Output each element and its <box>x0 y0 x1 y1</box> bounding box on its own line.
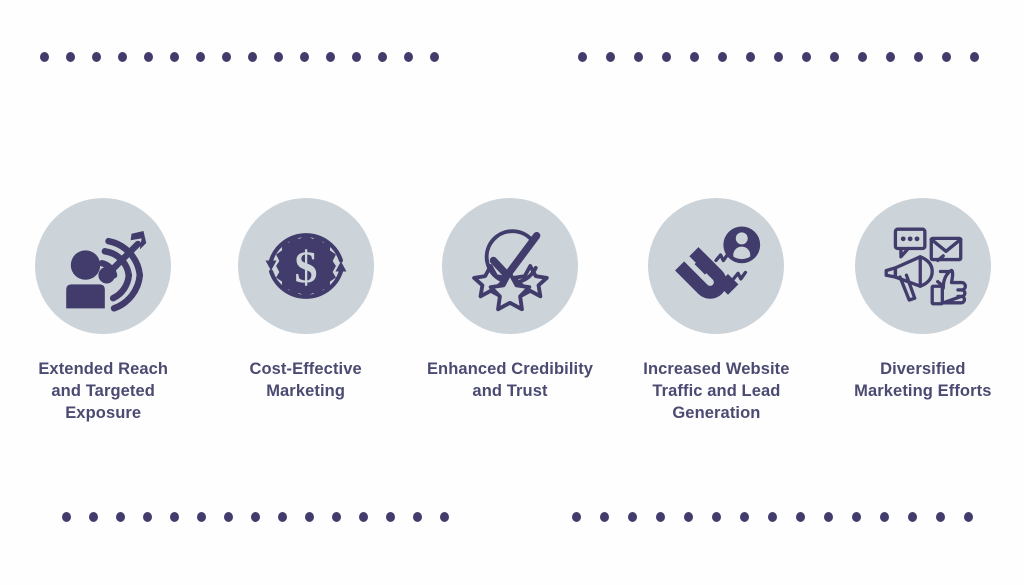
decorative-dot <box>600 512 609 522</box>
benefit-label: Extended Reach and Targeted Exposure <box>8 358 198 424</box>
decorative-dot <box>66 52 75 62</box>
decorative-dot <box>774 52 783 62</box>
benefit-item-website-traffic: Increased Website Traffic and Lead Gener… <box>615 198 817 424</box>
benefit-item-credibility: Enhanced Credibility and Trust <box>409 198 611 402</box>
decorative-dot <box>908 512 917 522</box>
decorative-dot <box>656 512 665 522</box>
decorative-dot <box>92 52 101 62</box>
decorative-dot <box>684 512 693 522</box>
decorative-dot <box>690 52 699 62</box>
decorative-dot <box>143 512 152 522</box>
decorative-dot <box>628 512 637 522</box>
decorative-dot <box>248 52 257 62</box>
decorative-dot <box>326 52 335 62</box>
decorative-dot <box>116 512 125 522</box>
decorative-dot <box>170 512 179 522</box>
decorative-dot <box>970 52 979 62</box>
decorative-dot <box>170 52 179 62</box>
decorative-dot <box>740 512 749 522</box>
icon-badge <box>442 198 578 334</box>
decorative-dot <box>964 512 973 522</box>
person-target-arrow-icon <box>57 220 149 312</box>
decorative-dot <box>578 52 587 62</box>
decorative-dot <box>942 52 951 62</box>
decorative-dot <box>118 52 127 62</box>
decorative-dot <box>914 52 923 62</box>
decorative-dot <box>89 512 98 522</box>
magnet-person-icon <box>670 220 762 312</box>
decorative-dot <box>413 512 422 522</box>
decorative-dot-row-bottom-left <box>62 511 449 523</box>
decorative-dot <box>224 512 233 522</box>
infographic-canvas: Extended Reach and Targeted Exposure <box>0 0 1024 585</box>
benefit-item-extended-reach: Extended Reach and Targeted Exposure <box>2 198 204 424</box>
decorative-dot-row-top-left <box>40 51 439 63</box>
decorative-dot <box>572 512 581 522</box>
decorative-dot <box>830 52 839 62</box>
decorative-dot <box>359 512 368 522</box>
decorative-dot <box>886 52 895 62</box>
benefit-label: Diversified Marketing Efforts <box>828 358 1018 402</box>
decorative-dot <box>332 512 341 522</box>
decorative-dot <box>852 512 861 522</box>
icon-badge <box>648 198 784 334</box>
decorative-dot <box>300 52 309 62</box>
decorative-dot <box>634 52 643 62</box>
gear-dollar-cycle-icon: $ <box>260 220 352 312</box>
decorative-dot <box>352 52 361 62</box>
decorative-dot <box>662 52 671 62</box>
decorative-dot <box>404 52 413 62</box>
decorative-dot <box>274 52 283 62</box>
decorative-dot <box>718 52 727 62</box>
svg-text:$: $ <box>294 242 317 293</box>
decorative-dot <box>430 52 439 62</box>
decorative-dot <box>802 52 811 62</box>
decorative-dot <box>386 512 395 522</box>
decorative-dot <box>222 52 231 62</box>
decorative-dot <box>746 52 755 62</box>
icon-badge <box>855 198 991 334</box>
decorative-dot <box>606 52 615 62</box>
decorative-dot-row-bottom-right <box>572 511 973 523</box>
decorative-dot <box>712 512 721 522</box>
icon-badge: $ <box>238 198 374 334</box>
decorative-dot <box>278 512 287 522</box>
decorative-dot <box>440 512 449 522</box>
benefit-items-row: Extended Reach and Targeted Exposure <box>0 198 1024 424</box>
decorative-dot <box>858 52 867 62</box>
decorative-dot <box>197 512 206 522</box>
megaphone-chat-mail-thumbsup-icon <box>877 220 969 312</box>
benefit-label: Cost-Effective Marketing <box>211 358 401 402</box>
decorative-dot <box>796 512 805 522</box>
decorative-dot <box>936 512 945 522</box>
benefit-item-cost-effective: $ Cost-Effective Marketing <box>204 198 406 402</box>
benefit-label: Increased Website Traffic and Lead Gener… <box>621 358 811 424</box>
decorative-dot <box>40 52 49 62</box>
decorative-dot <box>251 512 260 522</box>
benefit-item-diversified-marketing: Diversified Marketing Efforts <box>822 198 1024 402</box>
checkmark-stars-icon <box>464 220 556 312</box>
decorative-dot <box>378 52 387 62</box>
decorative-dot <box>62 512 71 522</box>
icon-badge <box>35 198 171 334</box>
decorative-dot <box>880 512 889 522</box>
decorative-dot <box>196 52 205 62</box>
decorative-dot <box>305 512 314 522</box>
benefit-label: Enhanced Credibility and Trust <box>415 358 605 402</box>
decorative-dot <box>768 512 777 522</box>
decorative-dot <box>824 512 833 522</box>
decorative-dot-row-top-right <box>578 51 979 63</box>
decorative-dot <box>144 52 153 62</box>
